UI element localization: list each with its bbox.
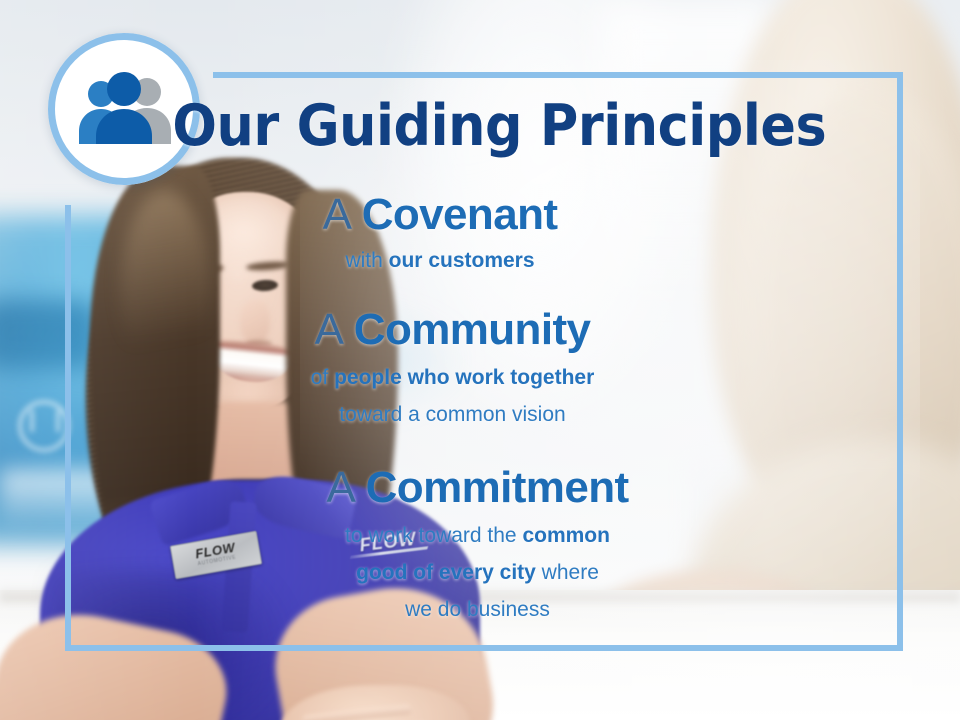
principle-commitment: A Commitment to work toward the common g… — [0, 463, 955, 624]
principle-community: A Community of people who work together … — [0, 305, 905, 429]
subtext-segment: where — [536, 561, 599, 584]
text-content: Our Guiding Principles A Covenant with o… — [0, 0, 960, 720]
principle-subtext-line: we do business — [0, 595, 955, 624]
subtext-segment: toward a common vision — [339, 403, 565, 426]
principle-heading: A Community — [0, 305, 905, 355]
subtext-segment: we do business — [405, 598, 550, 621]
principle-covenant: A Covenant with our customers — [0, 190, 880, 275]
page-title: Our Guiding Principles — [38, 96, 921, 156]
principle-subtext-line: to work toward the common — [0, 521, 955, 550]
principle-subtext-line: with our customers — [0, 246, 880, 275]
principle-subtext-line: toward a common vision — [0, 400, 905, 429]
subtext-segment: to work toward the — [345, 524, 522, 547]
principle-keyword: Community — [354, 305, 591, 354]
subtext-segment-bold: common — [522, 524, 610, 547]
principle-keyword: Commitment — [366, 463, 629, 512]
subtext-segment: with — [345, 249, 388, 272]
subtext-segment: of — [311, 366, 334, 389]
principle-keyword: Covenant — [362, 190, 558, 239]
principle-article: A — [323, 190, 350, 239]
principle-subtext-line: good of every city where — [0, 558, 955, 587]
subtext-segment-bold: good of every city — [356, 561, 536, 584]
principle-subtext-line: of people who work together — [0, 363, 905, 392]
principle-article: A — [315, 305, 342, 354]
guiding-principles-graphic: FLOW FLOW AUTOMOTIVE — [0, 0, 960, 720]
principle-heading: A Commitment — [0, 463, 955, 513]
principle-article: A — [326, 463, 353, 512]
subtext-segment-bold: our customers — [389, 249, 535, 272]
principle-heading: A Covenant — [0, 190, 880, 240]
subtext-segment-bold: people who work together — [334, 366, 594, 389]
